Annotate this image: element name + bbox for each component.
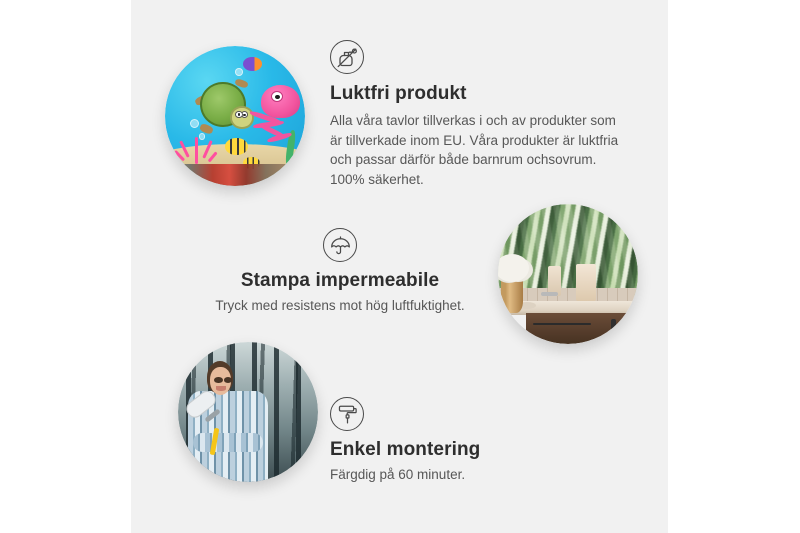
feature-block-odour-free: Luktfri produkt Alla våra tavlor tillver…	[330, 40, 630, 189]
fish-icon	[225, 138, 247, 155]
octopus-eye	[271, 91, 283, 102]
feature-body: Alla våra tavlor tillverkas i och av pro…	[330, 111, 630, 189]
screenshot-root: Luktfri produkt Alla våra tavlor tillver…	[0, 0, 800, 533]
turtle-eye	[235, 111, 243, 118]
ocean-foreground-strip	[165, 164, 305, 186]
person-illustration	[186, 359, 273, 482]
photo-bathroom-inner	[498, 204, 638, 344]
no-fragrance-icon	[330, 40, 364, 74]
feature-block-waterproof-print: Stampa impermeabile Tryck med resistens …	[205, 228, 475, 316]
faucet-object	[541, 292, 558, 296]
coral-illustration	[176, 127, 218, 163]
feature-title: Stampa impermeabile	[205, 270, 475, 292]
product-photo-person-roller-forest[interactable]	[178, 342, 318, 482]
product-photo-ocean-cartoon[interactable]	[165, 46, 305, 186]
feature-block-easy-mounting: Enkel montering Färgdig på 60 minuter.	[330, 397, 590, 485]
coral-branch	[208, 151, 219, 163]
octopus-head	[261, 85, 300, 118]
photo-ocean-inner	[165, 46, 305, 186]
feature-title: Luktfri produkt	[330, 83, 630, 105]
decor-box-object	[576, 264, 596, 300]
feature-title: Enkel montering	[330, 439, 590, 461]
photo-person-inner	[178, 342, 318, 482]
octopus-illustration	[252, 85, 302, 144]
turtle-illustration	[196, 82, 252, 130]
feature-body: Tryck med resistens mot hög luftfuktighe…	[205, 296, 475, 316]
product-photo-bathroom-botanical[interactable]	[498, 204, 638, 344]
coral-branch	[195, 137, 199, 164]
feature-body: Färgdig på 60 minuter.	[330, 465, 590, 485]
fish-icon	[243, 57, 261, 71]
wooden-vanity	[526, 313, 638, 344]
smile	[216, 386, 226, 391]
umbrella-icon	[323, 228, 357, 262]
bubble-icon	[235, 68, 243, 76]
crossed-arms	[193, 433, 262, 453]
cabinet-handle	[611, 319, 615, 339]
turtle-head	[230, 106, 254, 129]
paint-roller-icon	[330, 397, 364, 431]
